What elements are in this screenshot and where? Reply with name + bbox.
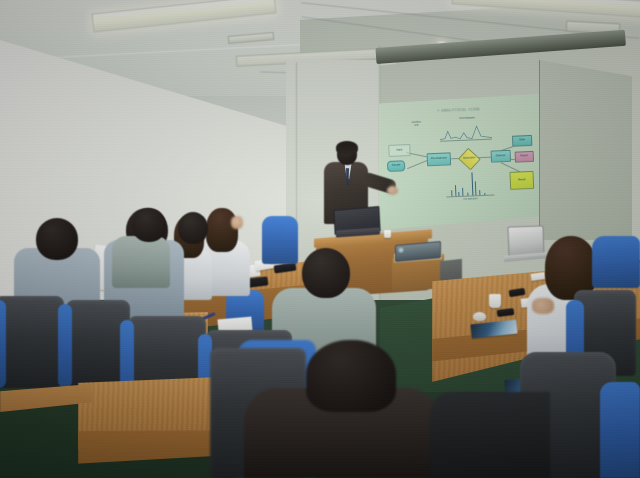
office-chair-frame[interactable] (58, 304, 72, 388)
attendee-woman-lab-coat-1-hair (206, 208, 238, 252)
office-chair[interactable] (430, 392, 550, 478)
office-chair[interactable] (262, 216, 298, 264)
attendee-front-left-head (36, 218, 78, 260)
slide-side-note: conditionnote (401, 121, 431, 128)
office-chair[interactable] (0, 296, 64, 388)
slide-node: Detector (491, 150, 511, 163)
projector-lens-icon (398, 247, 404, 253)
attendee-left-3-head (132, 208, 166, 242)
office-chair-frame[interactable] (600, 382, 640, 478)
office-chair[interactable] (592, 236, 640, 288)
computer-mouse (473, 312, 486, 321)
projection-screen: ▪ ᴀɴᴀʟʏᴛɪᴄᴀʟ ғʟᴏш conditionnote Input Sa… (379, 94, 539, 230)
projected-slide: ▪ ᴀɴᴀʟʏᴛɪᴄᴀʟ ғʟᴏш conditionnote Input Sa… (376, 91, 542, 234)
office-chair-frame[interactable] (0, 300, 6, 388)
slide-connector (407, 160, 428, 169)
coffee-mug (489, 294, 501, 308)
spectrum-caption: m/z spectrum (449, 198, 493, 202)
attendee-woman-lab-coat-1-face (231, 216, 243, 229)
presenter-hand (387, 186, 398, 195)
presenter-hair (336, 141, 358, 154)
podium-coffee-mug (384, 230, 391, 238)
attendee-mid-row-head (302, 248, 350, 298)
slide-node: Pre-treatment (427, 152, 452, 166)
slide-node: Data (512, 135, 532, 147)
attendee-foreground-head (306, 340, 396, 412)
attendee-left-3-body (112, 236, 170, 288)
mass-spectrum (447, 171, 490, 197)
meeting-room-photo: ▪ ᴀɴᴀʟʏᴛɪᴄᴀʟ ғʟᴏш conditionnote Input Sa… (0, 0, 640, 478)
slide-node: Report (515, 151, 534, 163)
chromatogram-caption: Chromatogram (449, 117, 485, 121)
slide-node: Sample (387, 160, 405, 172)
attendee-left-4-head (178, 212, 208, 244)
slide-title: ▪ ᴀɴᴀʟʏᴛɪᴄᴀʟ ғʟᴏш (413, 105, 505, 114)
slide-node-decision: Separation (458, 148, 481, 171)
slide-node: Input (388, 144, 410, 157)
screen-side-panel (539, 60, 632, 240)
slide-node: Result (509, 171, 534, 190)
attendee-woman-right-hand (532, 298, 554, 314)
